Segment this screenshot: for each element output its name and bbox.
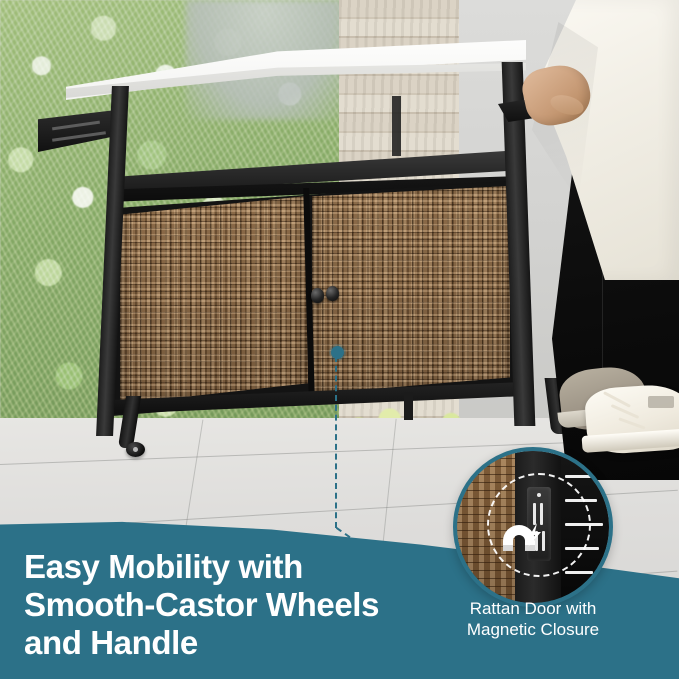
door-knob: [311, 288, 324, 303]
inset-ring: [453, 447, 613, 607]
sneaker-tag: [648, 396, 674, 408]
person-pushing-cart: [498, 0, 679, 480]
side-handle: [38, 110, 116, 152]
product-marketing-image: Easy Mobility with Smooth-Castor Wheels …: [0, 0, 679, 679]
headline-line-2: Smooth-Castor Wheels: [24, 586, 434, 624]
headline-line-3: and Handle: [24, 624, 434, 662]
headline-line-1: Easy Mobility with: [24, 548, 434, 586]
rattan-door-left: [120, 196, 308, 404]
caption-line-2: Magnetic Closure: [433, 619, 633, 640]
caster-bolt: [133, 447, 138, 452]
cart-leg-rear: [404, 392, 413, 420]
callout-caption: Rattan Door with Magnetic Closure: [433, 598, 633, 640]
frame-post-rear: [392, 96, 401, 156]
rattan-door-right: [312, 186, 510, 394]
caption-line-1: Rattan Door with: [433, 598, 633, 619]
headline: Easy Mobility with Smooth-Castor Wheels …: [24, 548, 434, 662]
door-knob: [326, 286, 339, 301]
callout-anchor-dot: [331, 346, 344, 359]
countertop-edge: [66, 63, 526, 109]
callout-inset: [453, 447, 613, 607]
connector-segment-vertical: [335, 356, 337, 528]
